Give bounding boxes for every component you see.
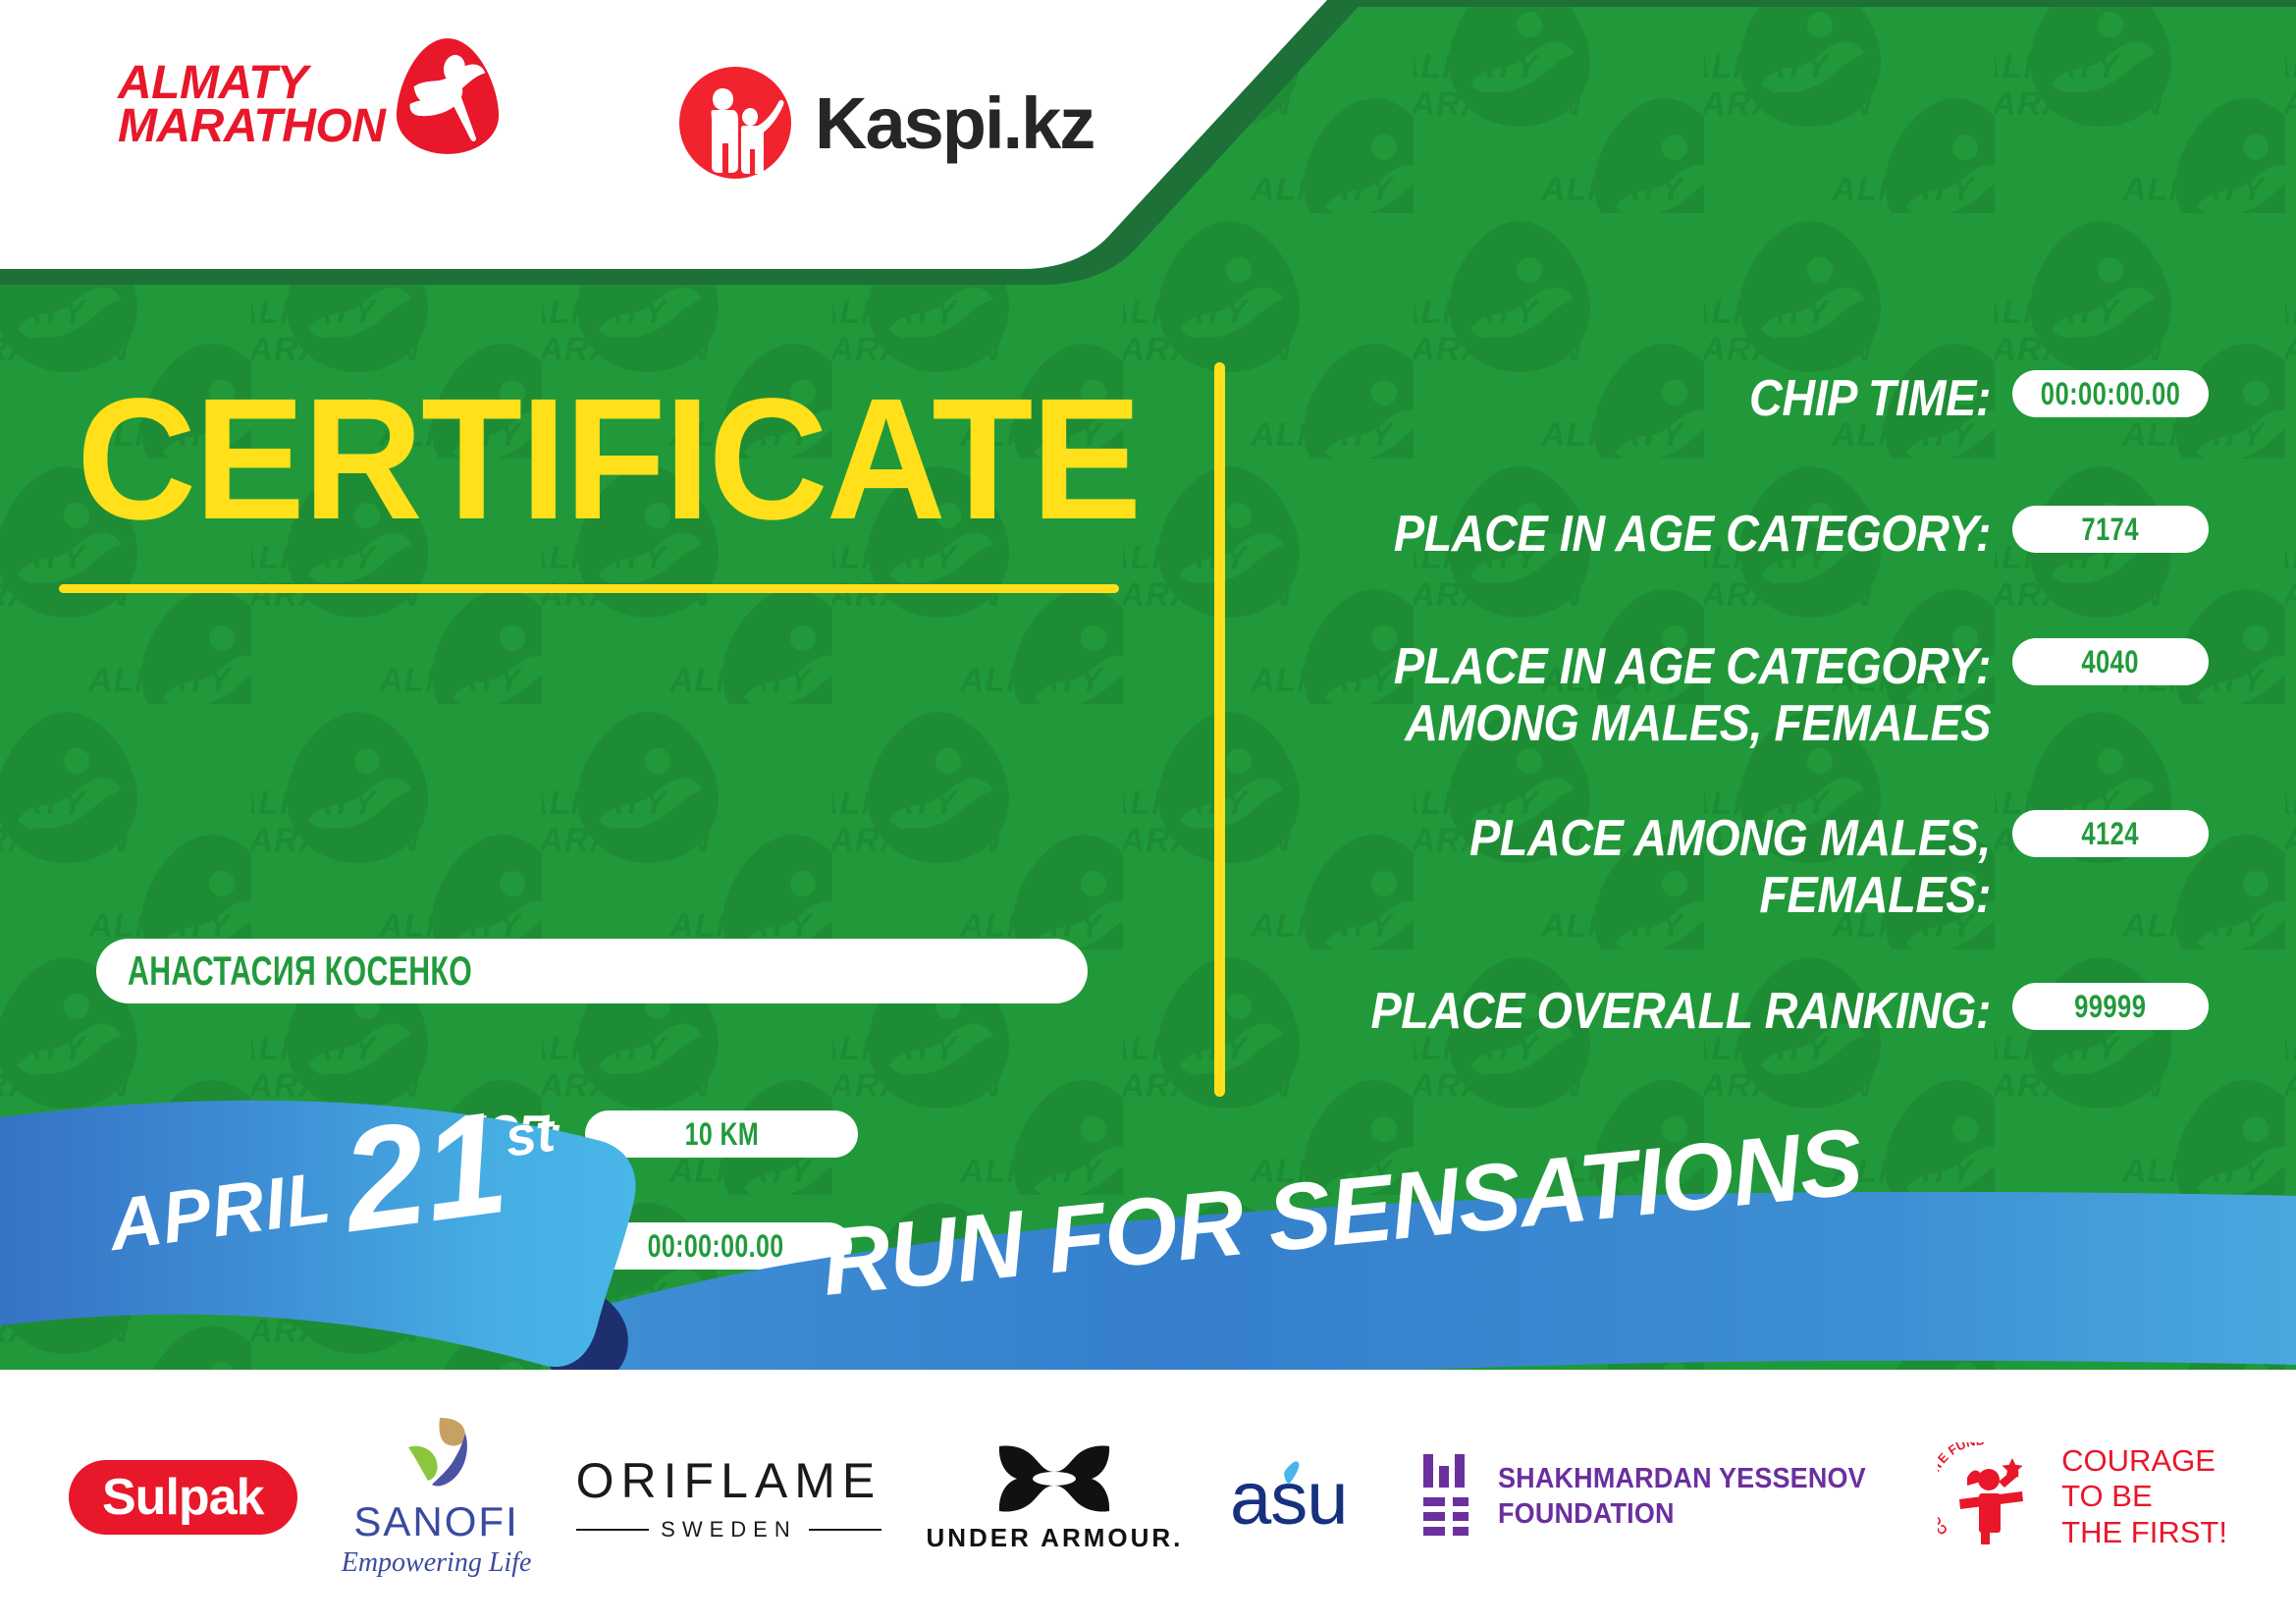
distance-value-field[interactable]: 10 KM [585,1110,858,1158]
sulpak-wordmark: Sulpak [102,1468,264,1527]
under-armour-wordmark: UNDER ARMOUR. [926,1523,1183,1553]
chip-time-value-field[interactable]: 00:00:00.00 [2012,370,2209,417]
place-age-category-row: PLACE IN AGE CATEGORY: 7174 [1276,506,2209,563]
place-age-category-value-field[interactable]: 7174 [2012,506,2209,553]
almaty-line: ALMATY [118,62,385,105]
place-among-gender-row: PLACE AMONG MALES, FEMALES: 4124 [1276,810,2209,924]
certificate-canvas: ALMATY MARATHON CERTIFICATE АНАСТАСИЯ КО… [0,0,2296,1624]
sponsor-sulpak: Sulpak [69,1460,297,1535]
sanofi-tagline: Empowering Life [342,1547,532,1579]
sponsor-bar: Sulpak SANOFI Empowering Life ORIFLAME S… [0,1370,2296,1624]
courage-runner-icon: CORPORATE FUND [1938,1442,2048,1552]
sponsor-courage-to-be-the-first: CORPORATE FUND COURAGE TO BE THE FIRST! [1938,1442,2227,1552]
sanofi-wordmark: SANOFI [353,1498,518,1545]
svg-text:CORPORATE FUND: CORPORATE FUND [1938,1442,1985,1538]
asu-logo-icon: asu [1228,1453,1375,1542]
runner-teardrop-icon [395,36,501,156]
header-content: ALMATY MARATHON Kaspi.kz [0,0,1237,275]
sponsor-asu: asu [1228,1453,1375,1542]
courage-line-2: TO BE [2061,1479,2227,1515]
courage-line-1: COURAGE [2061,1443,2227,1480]
yessenov-line-2: FOUNDATION [1498,1497,1866,1532]
sponsor-under-armour: UNDER ARMOUR. [926,1440,1183,1553]
courage-line-3: THE FIRST! [2061,1515,2227,1551]
place-among-gender-value: 4124 [2082,816,2140,852]
place-overall-ranking-value: 99999 [2074,989,2146,1025]
marathon-line: MARATHON [118,105,385,148]
place-age-category-value: 7174 [2082,512,2140,548]
participant-name-value: АНАСТАСИЯ КОСЕНКО [128,947,472,995]
place-overall-ranking-row: PLACE OVERALL RANKING: 99999 [1276,983,2209,1040]
yessenov-mark-icon [1419,1452,1480,1543]
oriflame-sweden-label: SWEDEN [661,1517,797,1543]
oriflame-sub: SWEDEN [576,1517,882,1543]
sponsor-sanofi: SANOFI Empowering Life [342,1416,532,1579]
event-day-ordinal: st [502,1100,559,1169]
place-age-category-gender-row: PLACE IN AGE CATEGORY: AMONG MALES, FEMA… [1276,638,2209,752]
place-among-gender-value-field[interactable]: 4124 [2012,810,2209,857]
sanofi-mark-icon [395,1416,479,1496]
place-among-gender-label: PLACE AMONG MALES, FEMALES: [1348,810,1991,924]
kaspi-logo: Kaspi.kz [677,65,1094,181]
oriflame-rule-left [576,1529,650,1531]
chip-time-value: 00:00:00.00 [2041,376,2180,412]
almaty-marathon-logo: ALMATY MARATHON [118,54,501,156]
distance-value: 10 KM [684,1116,758,1153]
courage-wordmark: COURAGE TO BE THE FIRST! [2061,1443,2227,1551]
sponsor-yessenov-foundation: SHAKHMARDAN YESSENOV FOUNDATION [1419,1452,1894,1543]
chip-time-row: CHIP TIME: 00:00:00.00 [1276,370,2209,427]
place-age-category-gender-label: PLACE IN AGE CATEGORY: AMONG MALES, FEMA… [1348,638,1991,752]
place-age-category-gender-value-field[interactable]: 4040 [2012,638,2209,685]
under-armour-icon [991,1440,1117,1517]
kaspi-people-circle-icon [677,65,793,181]
sponsor-oriflame: ORIFLAME SWEDEN [576,1452,882,1543]
place-overall-ranking-label: PLACE OVERALL RANKING: [1348,983,1991,1040]
yessenov-line-1: SHAKHMARDAN YESSENOV [1498,1462,1866,1496]
place-overall-ranking-value-field[interactable]: 99999 [2012,983,2209,1030]
chip-time-label: CHIP TIME: [1348,370,1991,427]
oriflame-rule-right [809,1529,882,1531]
place-age-category-label: PLACE IN AGE CATEGORY: [1348,506,1991,563]
oriflame-wordmark: ORIFLAME [576,1452,882,1509]
finish-time-value: 00:00:00.00 [648,1228,784,1265]
kaspi-wordmark: Kaspi.kz [815,81,1094,165]
column-divider [1214,362,1225,1097]
yessenov-wordmark: SHAKHMARDAN YESSENOV FOUNDATION [1498,1462,1866,1532]
almaty-marathon-wordmark: ALMATY MARATHON [118,62,385,148]
event-day: 21 [337,1103,512,1242]
title-underline [59,584,1119,593]
finish-time-value-field[interactable]: 00:00:00.00 [579,1222,852,1270]
participant-name-field[interactable]: АНАСТАСИЯ КОСЕНКО [96,939,1088,1003]
place-age-category-gender-value: 4040 [2082,644,2140,680]
certificate-title: CERTIFICATE [77,373,1140,546]
